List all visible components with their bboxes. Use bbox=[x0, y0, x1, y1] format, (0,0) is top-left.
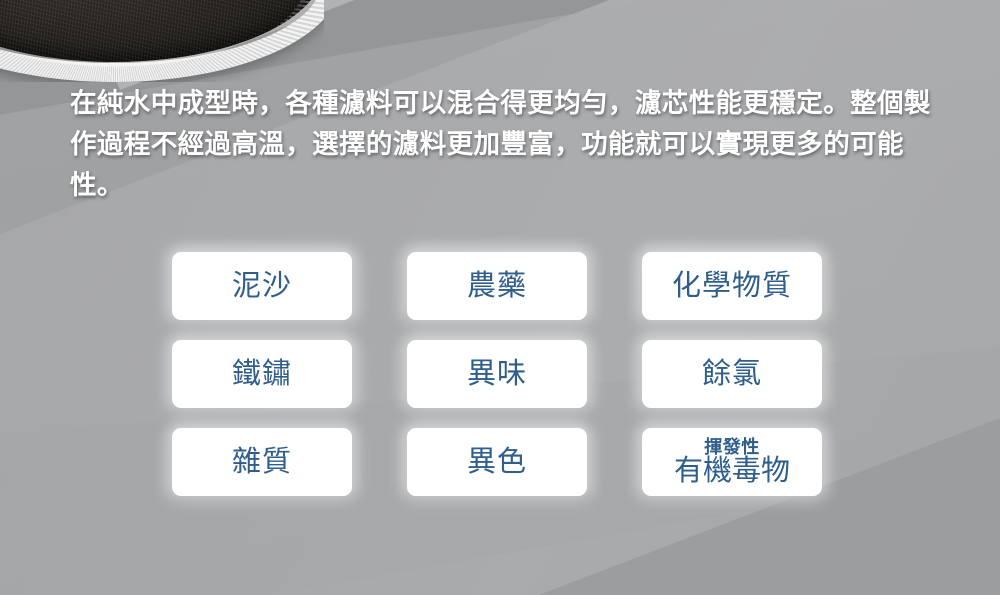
card-odor[interactable]: 異味 bbox=[407, 340, 587, 408]
description-paragraph: 在純水中成型時，各種濾料可以混合得更均勻，濾芯性能更穩定。整個製作過程不經過高溫… bbox=[70, 83, 950, 206]
card-rust[interactable]: 鐵鏽 bbox=[172, 340, 352, 408]
card-discoloration[interactable]: 異色 bbox=[407, 428, 587, 496]
card-label: 異色 bbox=[467, 447, 527, 477]
card-residual-chlorine[interactable]: 餘氯 bbox=[642, 340, 822, 408]
card-label: 雜質 bbox=[232, 447, 292, 477]
card-sublabel: 揮發性 bbox=[704, 438, 760, 457]
contaminant-card-grid: 泥沙 農藥 化學物質 鐵鏽 異味 餘氯 雜質 異色 揮發性 有機毒物 bbox=[172, 252, 822, 496]
card-chemicals[interactable]: 化學物質 bbox=[642, 252, 822, 320]
card-label: 餘氯 bbox=[702, 359, 762, 389]
card-label: 化學物質 bbox=[672, 271, 792, 301]
slide-root: 在純水中成型時，各種濾料可以混合得更均勻，濾芯性能更穩定。整個製作過程不經過高溫… bbox=[0, 0, 1000, 595]
card-label: 有機毒物 bbox=[674, 456, 790, 486]
filter-wrap-shadow bbox=[0, 0, 324, 82]
card-label: 鐵鏽 bbox=[232, 359, 292, 389]
card-label: 泥沙 bbox=[232, 271, 292, 301]
card-pesticide[interactable]: 農藥 bbox=[407, 252, 587, 320]
card-sediment[interactable]: 泥沙 bbox=[172, 252, 352, 320]
card-impurities[interactable]: 雜質 bbox=[172, 428, 352, 496]
card-voc-toxins[interactable]: 揮發性 有機毒物 bbox=[642, 428, 822, 496]
card-label: 異味 bbox=[467, 359, 527, 389]
water-filter-cartridge-photo bbox=[0, 0, 324, 82]
card-label: 農藥 bbox=[467, 271, 527, 301]
